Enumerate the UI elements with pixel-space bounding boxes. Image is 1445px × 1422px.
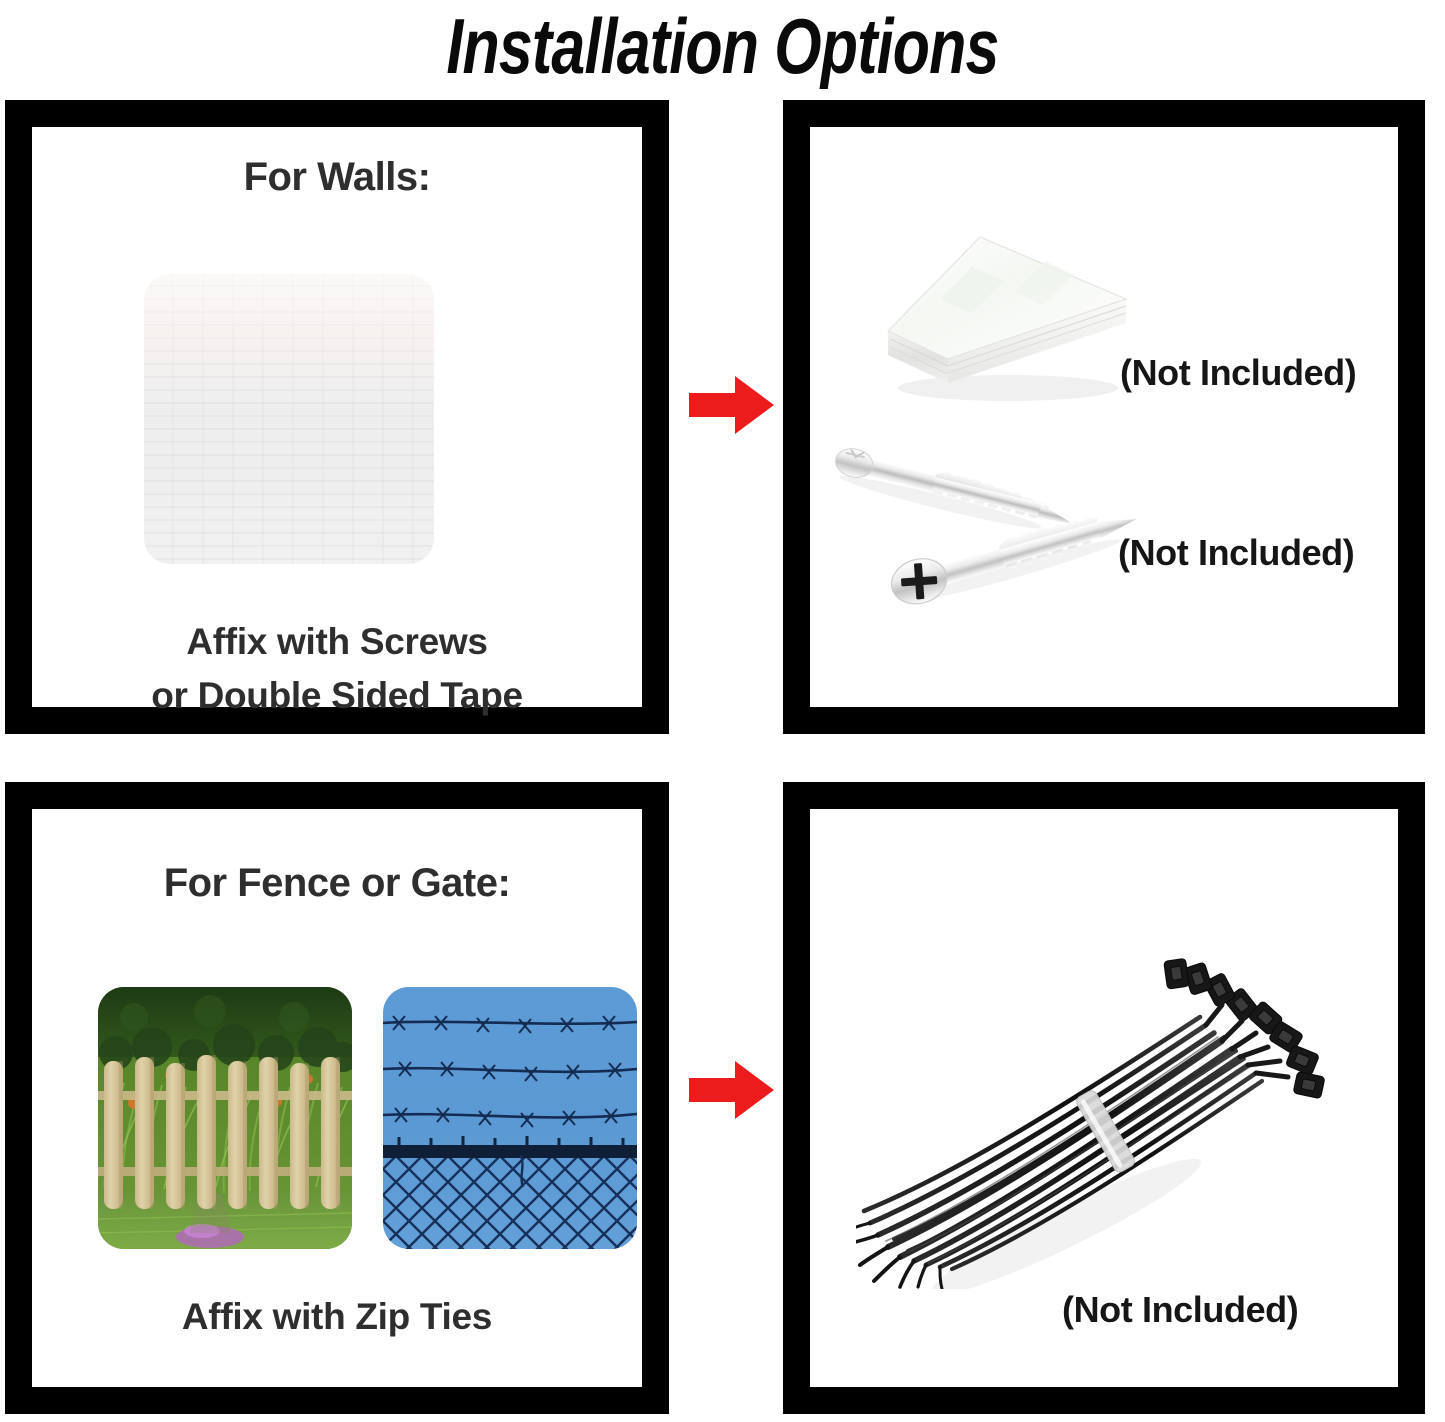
panel-for-walls-inner: For Walls: Affix with Screws or Double S… (32, 127, 642, 707)
red-right-arrow-icon (689, 1060, 775, 1120)
red-right-arrow-icon (689, 375, 775, 435)
panel-for-fence-or-gate: For Fence or Gate: (5, 782, 669, 1414)
phillips-wood-screws-image (828, 443, 1158, 613)
white-brick-wall-image (144, 274, 434, 564)
label-zip-ties-not-included: (Not Included) (1062, 1289, 1298, 1331)
panel-heading-for-walls: For Walls: (32, 155, 642, 200)
label-screws-not-included: (Not Included) (1118, 532, 1354, 574)
panel-heading-for-fence-or-gate: For Fence or Gate: (32, 861, 642, 906)
panel-fence-hardware: (Not Included) (783, 782, 1425, 1414)
caption-affix-with-zip-ties: Affix with Zip Ties (32, 1296, 642, 1338)
panel-wall-hardware-inner: (Not Included) (810, 127, 1398, 707)
label-tape-not-included: (Not Included) (1120, 352, 1356, 394)
panel-for-fence-or-gate-inner: For Fence or Gate: (32, 809, 642, 1387)
panel-fence-hardware-inner: (Not Included) (810, 809, 1398, 1387)
caption-or-double-sided-tape: or Double Sided Tape (32, 675, 642, 717)
black-zip-tie-bundle-image (856, 909, 1326, 1289)
page-title: Installation Options (159, 0, 1286, 92)
wooden-picket-fence-photo (98, 987, 352, 1249)
panel-wall-hardware: (Not Included) (783, 100, 1425, 734)
caption-affix-with-screws: Affix with Screws (32, 621, 642, 663)
double-sided-tape-stack-image (868, 223, 1138, 408)
barbed-wire-chain-link-fence-photo (383, 987, 637, 1249)
panel-for-walls: For Walls: Affix with Screws or Double S… (5, 100, 669, 734)
